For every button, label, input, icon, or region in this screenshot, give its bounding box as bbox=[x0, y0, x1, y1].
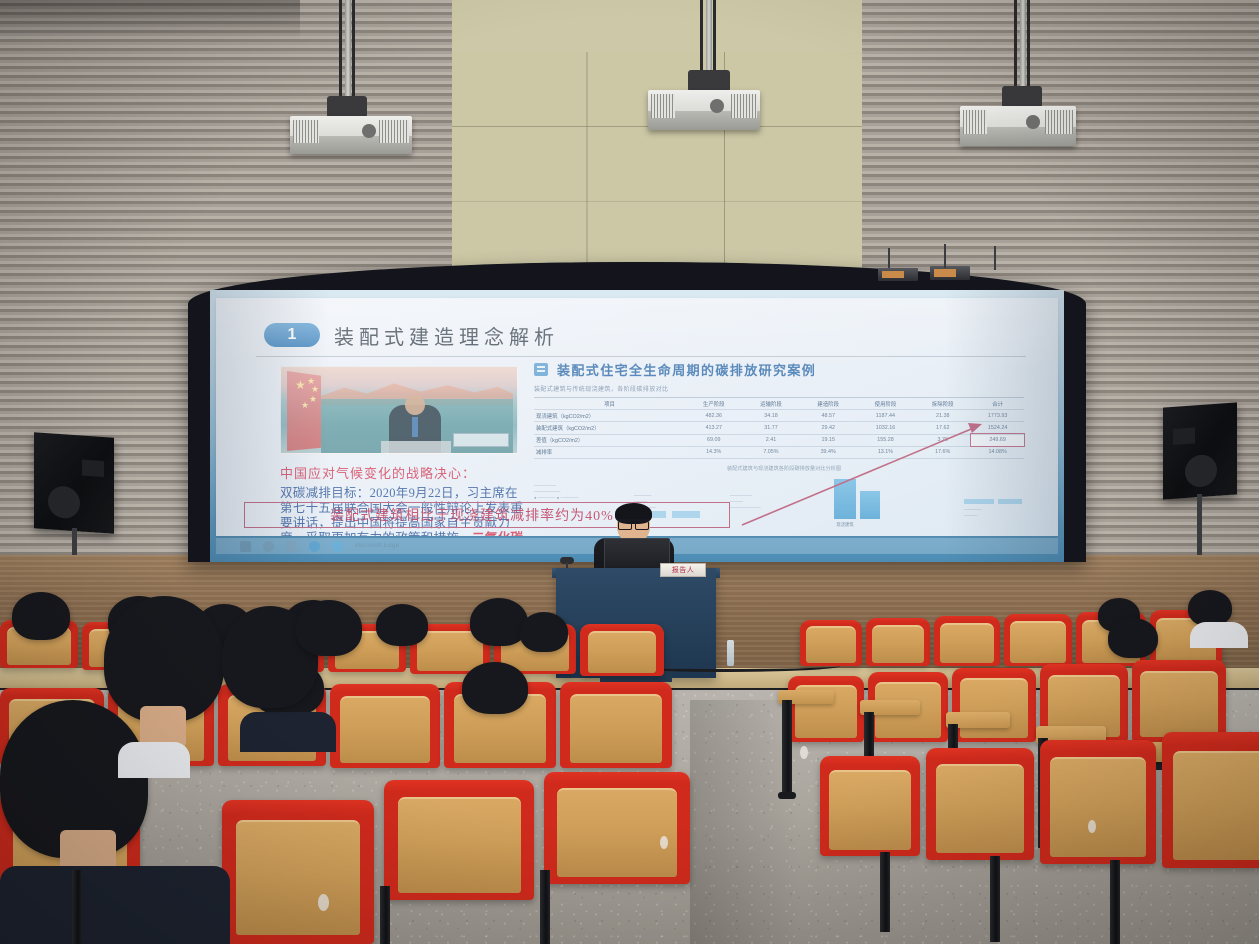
chart-legend-chip-4 bbox=[998, 499, 1022, 504]
task-view-icon[interactable] bbox=[286, 541, 297, 552]
slide-subnote: 装配式建筑与传统现浇建筑，各阶段碳排放对比 bbox=[534, 384, 1034, 393]
table-cell: 482.36 bbox=[685, 410, 742, 422]
seat-r-near-3[interactable] bbox=[1040, 740, 1156, 864]
seat-knob-l2 bbox=[660, 836, 668, 849]
slide-number-badge: 1 bbox=[264, 323, 320, 347]
audience-head-front-2 bbox=[104, 596, 224, 722]
seat-r-near-2[interactable] bbox=[926, 748, 1034, 860]
table-cell: 29.42 bbox=[800, 422, 857, 434]
seat-l-near-4[interactable] bbox=[544, 772, 690, 884]
projector-lens-center bbox=[710, 99, 724, 113]
photo-caption-box bbox=[453, 433, 509, 447]
slide-callout-box: 装配式建筑相比于现浇建筑减排率约为40%！！ bbox=[244, 502, 730, 528]
table-cell: 1773.93 bbox=[971, 410, 1024, 422]
audience-head-l1 bbox=[12, 592, 70, 640]
table-header-cell: 项目 bbox=[534, 398, 685, 410]
seat-l-mid-4[interactable] bbox=[330, 684, 440, 768]
projector-mount-center bbox=[688, 70, 730, 92]
table-cell: 39.4% bbox=[800, 446, 857, 458]
table-cell: 14.3% bbox=[685, 446, 742, 458]
powerpoint-slide[interactable]: 1 装配式建造理念解析 ★ ★ ★ ★ ★ bbox=[216, 298, 1058, 536]
seat-post-l1 bbox=[72, 870, 82, 944]
table-header-row: 项目 生产阶段 运输阶段 建造阶段 使用阶段 拆除阶段 合计 bbox=[534, 398, 1024, 410]
wall-speaker-right bbox=[1163, 402, 1237, 499]
mic-antenna-2 bbox=[944, 244, 946, 268]
audience-shoulders-l1 bbox=[240, 712, 336, 752]
table-cell: 17.62 bbox=[914, 422, 971, 434]
table-header-cell: 生产阶段 bbox=[685, 398, 742, 410]
table-cell: 34.18 bbox=[742, 410, 799, 422]
wall-speaker-left bbox=[34, 432, 114, 534]
audience-head-r3 bbox=[1108, 618, 1158, 658]
table-cell: 69.09 bbox=[685, 434, 742, 446]
table-cell: 7.05% bbox=[742, 446, 799, 458]
podium-nameplate: 报告人 bbox=[660, 563, 706, 577]
slide-subheading-row: 装配式住宅全生命周期的碳排放研究案例 bbox=[534, 360, 1034, 379]
slide-left-heading: 中国应对气候变化的战略决心： bbox=[280, 463, 520, 482]
seat-knob-l1 bbox=[318, 894, 329, 911]
table-cell: 21.38 bbox=[914, 410, 971, 422]
china-flag-icon: ★ ★ ★ ★ ★ bbox=[287, 371, 321, 451]
carbon-emission-table: 项目 生产阶段 运输阶段 建造阶段 使用阶段 拆除阶段 合计 现 bbox=[534, 397, 1024, 459]
seat-r-near-1[interactable] bbox=[820, 756, 920, 856]
slide-title: 装配式建造理念解析 bbox=[334, 321, 559, 350]
table-cell: 155.28 bbox=[857, 434, 914, 446]
table-cell: 3.76 bbox=[914, 434, 971, 446]
seat-post-l3 bbox=[540, 870, 550, 944]
table-row: 减排率 14.3% 7.05% 39.4% 13.1% 17.6% 14.08% bbox=[534, 446, 1024, 458]
chart-side-text-d: ——————— bbox=[964, 507, 1024, 519]
chart-legend-chip-3 bbox=[964, 499, 994, 504]
seat-post-r6 bbox=[990, 856, 1000, 942]
photo-speaker-tie bbox=[412, 417, 418, 437]
taskbar-app-label[interactable]: Microsoft Edge bbox=[355, 543, 399, 549]
table-row-label: 现浇建筑（kgCO2/m2） bbox=[534, 410, 685, 422]
table-cell: 1524.24 bbox=[971, 422, 1024, 434]
table-row-label: 减排率 bbox=[534, 446, 685, 458]
chart-side-text-c: ——————————————— bbox=[730, 493, 820, 511]
slide-title-row: 1 装配式建造理念解析 bbox=[264, 320, 784, 350]
table-header-cell: 运输阶段 bbox=[742, 398, 799, 410]
seat-post-l2 bbox=[380, 886, 390, 944]
table-row: 差值（kgCO2/m2） 69.09 2.41 19.15 155.28 3.7… bbox=[534, 434, 1024, 446]
audience-head-l5 bbox=[376, 604, 428, 646]
audience-shoulders-front-2 bbox=[118, 742, 190, 778]
table-cell: 1032.16 bbox=[857, 422, 914, 434]
chart-caption: 装配式建筑与现浇建筑各阶段碳排放量对比分析图 bbox=[534, 465, 1034, 472]
slide-callout-text: 装配式建筑相比于现浇建筑减排率约为40%！！ bbox=[330, 505, 644, 525]
table-cell: 13.1% bbox=[857, 446, 914, 458]
seat-r-far-1[interactable] bbox=[800, 620, 862, 666]
lecture-hall-scene: 1 装配式建造理念解析 ★ ★ ★ ★ ★ bbox=[0, 0, 1259, 944]
podium-nameplate-text: 报告人 bbox=[672, 565, 695, 575]
table-cell: 14.08% bbox=[971, 446, 1024, 458]
edge-browser-icon[interactable] bbox=[309, 541, 320, 552]
audience-head-l6 bbox=[470, 598, 528, 646]
photo-speaker-head bbox=[405, 395, 425, 415]
table-cell: 413.27 bbox=[685, 422, 742, 434]
seat-l-near-2[interactable] bbox=[222, 800, 374, 944]
aisle-shadow bbox=[690, 700, 800, 944]
search-icon[interactable] bbox=[263, 541, 274, 552]
seat-r-mid-3[interactable] bbox=[952, 668, 1036, 742]
seat-l-far-8[interactable] bbox=[580, 624, 664, 676]
audience-head-front-4 bbox=[296, 600, 362, 656]
audience-head-r2 bbox=[1188, 590, 1232, 626]
table-header-cell: 合计 bbox=[971, 398, 1024, 410]
seat-l-mid-6[interactable] bbox=[560, 682, 672, 768]
slide-title-divider bbox=[256, 356, 1026, 357]
audience-head-l9 bbox=[462, 662, 528, 714]
mic-antenna-1 bbox=[888, 248, 890, 268]
audience-shoulders-r1 bbox=[1190, 622, 1248, 648]
table-cell: 17.6% bbox=[914, 446, 971, 458]
seat-post-r5 bbox=[880, 852, 890, 932]
table-cell-highlighted: 249.69 bbox=[971, 434, 1024, 446]
table-cell: 48.57 bbox=[800, 410, 857, 422]
ceiling-shadow bbox=[0, 0, 300, 40]
wireless-mic-receiver-1 bbox=[878, 268, 918, 281]
projector-lens-left bbox=[362, 124, 376, 138]
projector-mount-right bbox=[1002, 86, 1042, 108]
bar-prefabricated bbox=[860, 491, 880, 519]
seat-r-far-4[interactable] bbox=[1004, 614, 1072, 666]
glasses-icon bbox=[618, 519, 649, 526]
wireless-mic-receiver-2 bbox=[930, 266, 970, 280]
seat-post-r7 bbox=[1110, 860, 1120, 944]
projector-mount-left bbox=[327, 96, 367, 118]
table-header-cell: 拆除阶段 bbox=[914, 398, 971, 410]
bullet-icon bbox=[534, 363, 548, 376]
seat-r-near-4[interactable] bbox=[1162, 732, 1259, 868]
table-cell: 1187.44 bbox=[857, 410, 914, 422]
slide-subheading: 装配式住宅全生命周期的碳排放研究案例 bbox=[557, 360, 816, 379]
table-cell: 31.77 bbox=[742, 422, 799, 434]
table-row: 装配式建筑（kgCO2/m2） 413.27 31.77 29.42 1032.… bbox=[534, 422, 1024, 434]
seat-r-far-3[interactable] bbox=[934, 616, 1000, 666]
explorer-icon[interactable] bbox=[332, 541, 343, 552]
table-cell: 19.15 bbox=[800, 434, 857, 446]
table-cell: 2.41 bbox=[742, 434, 799, 446]
seat-knob-r5 bbox=[1088, 820, 1096, 833]
projector-lens-right bbox=[1026, 115, 1040, 129]
bar-cast-in-place bbox=[834, 479, 856, 519]
seat-r-far-2[interactable] bbox=[866, 618, 930, 666]
wall-panel-grid bbox=[452, 52, 862, 280]
seat-knob-r1 bbox=[800, 746, 808, 759]
bar-label-1: 现浇建筑 bbox=[825, 522, 865, 528]
audience-shoulders-front-1 bbox=[0, 866, 230, 944]
table-header-cell: 建造阶段 bbox=[800, 398, 857, 410]
photo-lectern bbox=[381, 441, 451, 454]
table-row-label: 差值（kgCO2/m2） bbox=[534, 434, 685, 446]
slide-photo: ★ ★ ★ ★ ★ bbox=[280, 366, 518, 454]
table-header-cell: 使用阶段 bbox=[857, 398, 914, 410]
audience-head-l7 bbox=[520, 612, 568, 652]
table-row: 现浇建筑（kgCO2/m2） 482.36 34.18 48.57 1187.4… bbox=[534, 410, 1024, 422]
mic-antenna-3 bbox=[994, 246, 996, 270]
seat-r-mid-5[interactable] bbox=[1132, 660, 1226, 742]
table-row-label: 装配式建筑（kgCO2/m2） bbox=[534, 422, 685, 434]
windows-start-icon[interactable] bbox=[240, 541, 251, 552]
seat-l-near-3[interactable] bbox=[384, 780, 534, 900]
chart-side-text-a: ———————————● ———— ● ———— bbox=[534, 483, 624, 501]
